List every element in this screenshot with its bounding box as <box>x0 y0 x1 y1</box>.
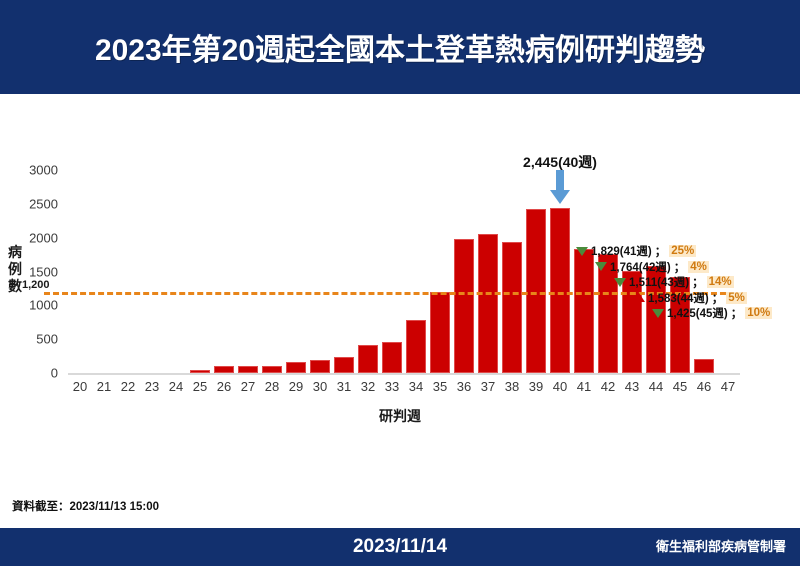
x-axis-tick: 35 <box>433 379 447 394</box>
bar-week-34 <box>406 320 426 373</box>
annotation-value: 1,425(45週) <box>667 305 728 321</box>
annotation-separator: ； <box>655 243 667 259</box>
footer-organization: 衛生福利部疾病管制署 <box>656 528 786 566</box>
y-axis-tick: 0 <box>51 366 58 381</box>
x-axis-tick: 47 <box>721 379 735 394</box>
bar-week-41 <box>574 249 594 373</box>
triangle-up-icon <box>633 293 645 302</box>
triangle-down-icon <box>614 278 626 287</box>
annotation-value: 1,829(41週) <box>591 243 652 259</box>
bar-week-25 <box>190 370 210 373</box>
x-axis-tick: 29 <box>289 379 303 394</box>
x-axis-tick: 46 <box>697 379 711 394</box>
y-axis-tick: 1000 <box>29 298 58 313</box>
annotation-value: 1,583(44週) <box>648 290 709 306</box>
bar-week-26 <box>214 366 234 373</box>
x-axis-labels: 2021222324252627282930313233343536373839… <box>68 379 740 399</box>
x-axis-tick: 23 <box>145 379 159 394</box>
y-axis-tick: 2500 <box>29 196 58 211</box>
x-axis-tick: 21 <box>97 379 111 394</box>
x-axis-tick: 38 <box>505 379 519 394</box>
x-axis-tick: 37 <box>481 379 495 394</box>
annotation-week-41: 1,829(41週)；25% <box>576 243 696 259</box>
header-banner: 2023年第20週起全國本土登革熱病例研判趨勢 <box>0 0 800 94</box>
bar-week-38 <box>502 242 522 373</box>
y-axis-tick: 3000 <box>29 163 58 178</box>
annotation-separator: ； <box>712 290 724 306</box>
x-axis-tick: 20 <box>73 379 87 394</box>
x-axis-tick: 34 <box>409 379 423 394</box>
x-axis-tick: 41 <box>577 379 591 394</box>
x-axis-tick: 36 <box>457 379 471 394</box>
annotation-separator: ； <box>731 305 743 321</box>
triangle-down-icon <box>595 262 607 271</box>
annotation-percent: 4% <box>688 261 709 273</box>
x-axis-tick: 22 <box>121 379 135 394</box>
x-axis-tick: 44 <box>649 379 663 394</box>
x-axis-line <box>68 373 740 375</box>
bar-week-31 <box>334 357 354 373</box>
x-axis-tick: 45 <box>673 379 687 394</box>
annotation-value: 1,764(42週) <box>610 259 671 275</box>
peak-arrow-icon <box>549 170 571 211</box>
x-axis-tick: 32 <box>361 379 375 394</box>
bar-week-30 <box>310 360 330 373</box>
x-axis-tick: 27 <box>241 379 255 394</box>
annotation-percent: 5% <box>726 292 747 304</box>
y-axis-tick: 1500 <box>29 264 58 279</box>
annotation-percent: 14% <box>707 276 734 288</box>
x-axis-tick: 30 <box>313 379 327 394</box>
annotation-percent: 25% <box>669 245 696 257</box>
annotation-week-43: 1,511(43週)；14% <box>614 274 734 290</box>
bar-week-29 <box>286 362 306 373</box>
x-axis-tick: 31 <box>337 379 351 394</box>
triangle-down-icon <box>576 247 588 256</box>
annotation-separator: ； <box>674 259 686 275</box>
bar-week-33 <box>382 342 402 373</box>
chart-container: 病例數 050010001500200025003000 1,200 2,445… <box>0 94 800 494</box>
x-axis-tick: 24 <box>169 379 183 394</box>
x-axis-tick: 43 <box>625 379 639 394</box>
bar-week-35 <box>430 292 450 373</box>
footer-banner: 2023/11/14 衛生福利部疾病管制署 <box>0 528 800 566</box>
y-axis-labels: 050010001500200025003000 <box>0 170 64 373</box>
annotation-week-42: 1,764(42週)；4% <box>595 259 709 275</box>
bar-week-27 <box>238 366 258 373</box>
x-axis-title: 研判週 <box>0 406 800 426</box>
x-axis-tick: 39 <box>529 379 543 394</box>
y-axis-tick: 500 <box>36 332 58 347</box>
page-title: 2023年第20週起全國本土登革熱病例研判趨勢 <box>95 25 705 69</box>
x-axis-tick: 33 <box>385 379 399 394</box>
bar-week-36 <box>454 239 474 373</box>
y-axis-tick: 2000 <box>29 230 58 245</box>
source-note: 資料截至：2023/11/13 15:00 <box>12 498 159 514</box>
x-axis-tick: 28 <box>265 379 279 394</box>
annotation-separator: ； <box>692 274 704 290</box>
bar-week-32 <box>358 345 378 373</box>
triangle-down-icon <box>652 309 664 318</box>
peak-callout-label: 2,445(40週) <box>523 152 597 172</box>
annotation-value: 1,511(43週) <box>629 274 689 290</box>
bar-week-40 <box>550 208 570 373</box>
x-axis-tick: 25 <box>193 379 207 394</box>
threshold-label: 1,200 <box>22 279 50 291</box>
x-axis-tick: 42 <box>601 379 615 394</box>
bar-week-37 <box>478 234 498 373</box>
x-axis-tick: 26 <box>217 379 231 394</box>
bar-week-46 <box>694 359 714 373</box>
annotation-week-45: 1,425(45週)；10% <box>652 305 772 321</box>
x-axis-tick: 40 <box>553 379 567 394</box>
annotation-percent: 10% <box>745 307 772 319</box>
bar-week-28 <box>262 366 282 373</box>
annotation-week-44: 1,583(44週)；5% <box>633 290 747 306</box>
